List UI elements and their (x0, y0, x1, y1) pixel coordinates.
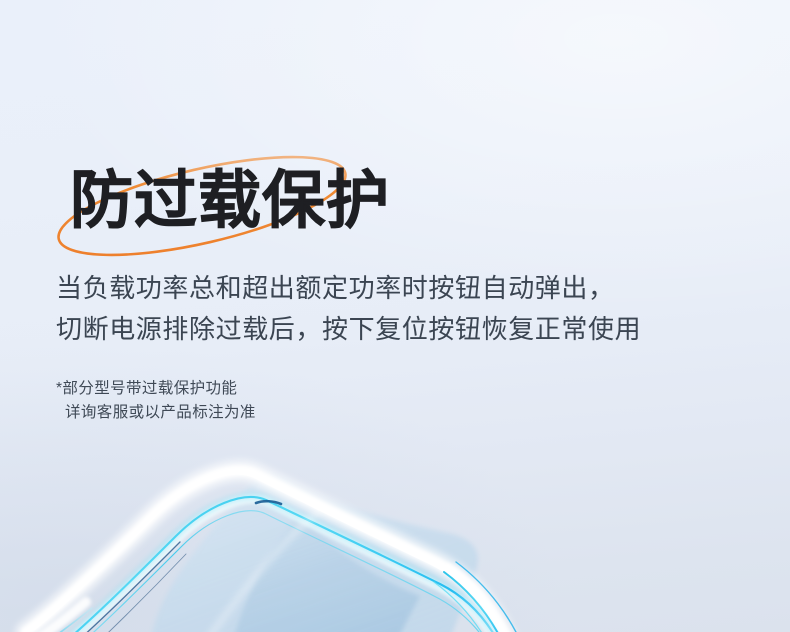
footnote-block: *部分型号带过载保护功能 详询客服或以产品标注为准 (56, 377, 476, 425)
footnote-line-1: *部分型号带过载保护功能 (56, 377, 476, 401)
description-block: 当负载功率总和超出额定功率时按钮自动弹出， 切断电源排除过载后，按下复位按钮恢复… (56, 268, 716, 350)
product-image-stage (0, 400, 790, 632)
description-line-1: 当负载功率总和超出额定功率时按钮自动弹出， (56, 268, 716, 309)
translucent-glass-shield-icon (0, 400, 790, 632)
headline-block: 防过载保护 (66, 163, 536, 249)
overload-protection-banner: 防过载保护 当负载功率总和超出额定功率时按钮自动弹出， 切断电源排除过载后，按下… (0, 0, 790, 632)
footnote-line-2: 详询客服或以产品标注为准 (56, 401, 476, 425)
page-title: 防过载保护 (70, 163, 390, 239)
description-line-2: 切断电源排除过载后，按下复位按钮恢复正常使用 (56, 309, 716, 350)
